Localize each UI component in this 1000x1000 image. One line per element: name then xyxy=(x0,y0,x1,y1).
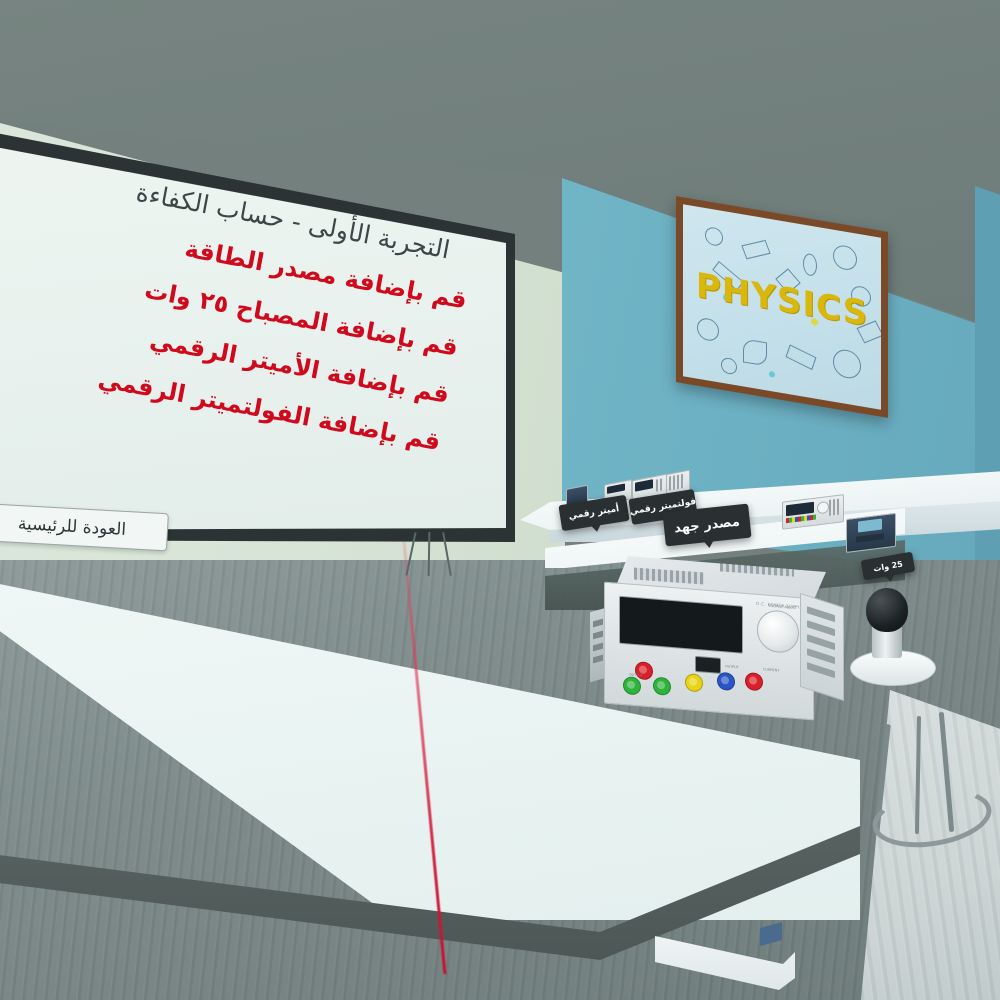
psu-vent xyxy=(807,620,835,636)
power-supply-unit[interactable]: D.C. POWER SUPPLY VOLTAGE ADJUST OUTPUT … xyxy=(604,556,840,726)
vr-lab-scene: PHYSICS xyxy=(0,0,1000,1000)
device-screen xyxy=(786,502,814,516)
terminal-red-2[interactable] xyxy=(635,661,653,680)
psu-vent xyxy=(634,568,704,585)
device-case xyxy=(846,513,896,553)
doodle-icon xyxy=(721,357,737,376)
doodle-icon xyxy=(803,253,817,277)
device-screen xyxy=(858,519,882,533)
doodle-dot xyxy=(769,371,775,378)
psu-vent xyxy=(720,559,794,576)
doodle-icon xyxy=(786,344,817,370)
whiteboard: التجربة الأولى - حساب الكفاءة قم بإضافة … xyxy=(0,112,570,572)
device-knob[interactable] xyxy=(817,501,829,514)
psu-vent xyxy=(593,619,603,628)
doodle-icon xyxy=(833,348,861,381)
doodle-icon xyxy=(697,317,719,343)
device-vent xyxy=(829,499,839,516)
device-vent xyxy=(656,478,664,492)
terminal-yellow[interactable] xyxy=(685,673,703,692)
doodle-icon xyxy=(743,338,767,366)
psu-vent xyxy=(807,648,835,664)
device-vent xyxy=(669,473,685,490)
psu-front-panel[interactable]: D.C. POWER SUPPLY VOLTAGE ADJUST OUTPUT … xyxy=(604,582,814,721)
doodle-icon xyxy=(833,244,857,272)
psu-vent xyxy=(593,655,603,664)
psu-vent xyxy=(593,643,603,652)
psu-vent xyxy=(807,662,835,678)
whiteboard-stand xyxy=(380,532,500,578)
physics-poster: PHYSICS xyxy=(676,196,888,418)
terminal-blue[interactable] xyxy=(717,672,735,691)
device-meter-right[interactable] xyxy=(846,513,894,551)
device-screen xyxy=(607,483,625,493)
doodle-icon xyxy=(705,226,723,247)
psu-power-switch[interactable] xyxy=(695,656,721,674)
psu-right-vent-panel xyxy=(800,593,844,701)
psu-voltage-knob[interactable] xyxy=(757,609,799,654)
psu-meter-caption: CURRENT xyxy=(763,667,779,672)
terminal-red-1[interactable] xyxy=(745,672,763,691)
terminal-green-1[interactable] xyxy=(623,676,641,695)
doodle-icon xyxy=(741,240,770,260)
psu-display xyxy=(619,596,743,654)
psu-vent xyxy=(807,634,835,650)
device-screen xyxy=(635,479,653,491)
psu-vent xyxy=(807,606,835,622)
terminal-green-2[interactable] xyxy=(653,676,671,695)
lamp-bulb[interactable] xyxy=(866,588,908,632)
device-keypad[interactable] xyxy=(856,533,884,542)
poster-artwork: PHYSICS xyxy=(683,204,881,409)
psu-output-caption-right: OUTPUT xyxy=(725,664,739,669)
psu-vent xyxy=(593,631,603,640)
device-terminals[interactable] xyxy=(786,515,816,524)
